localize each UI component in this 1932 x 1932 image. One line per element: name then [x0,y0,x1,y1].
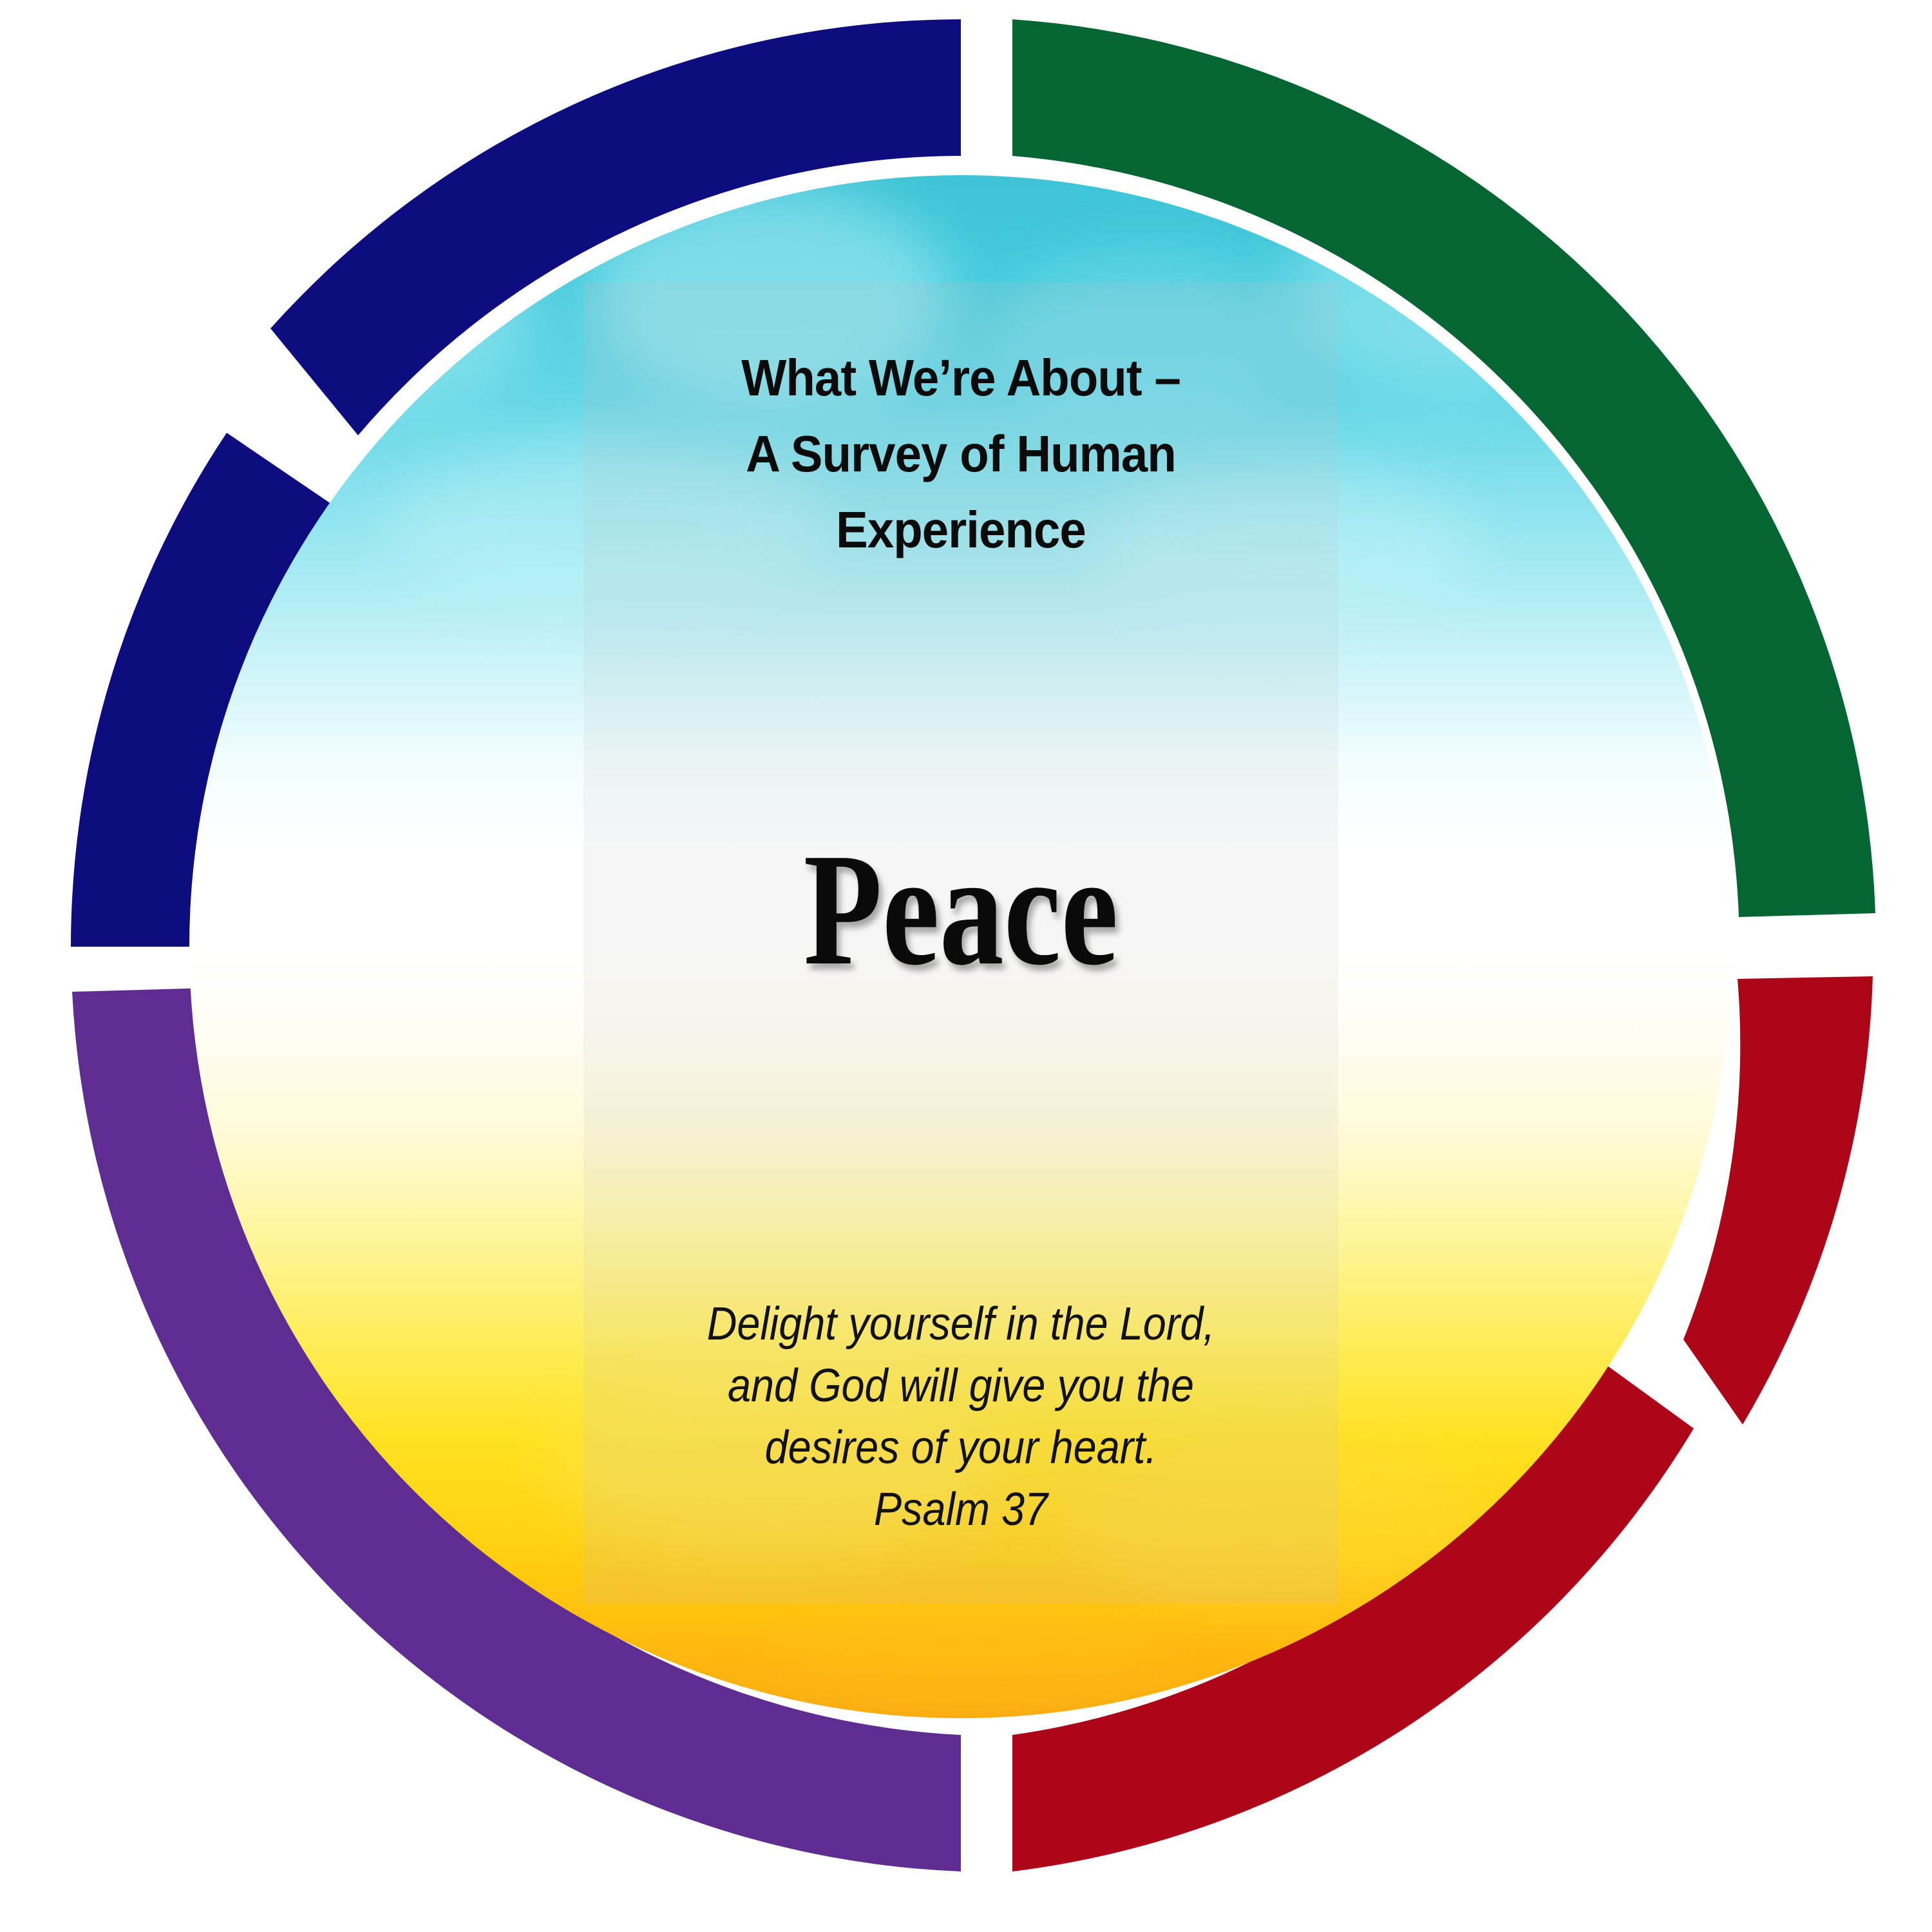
slide-title-line-1: What We’re About – [610,340,1312,416]
cloud-texture [267,214,537,407]
slide-title-line-3: Experience [610,492,1312,568]
scripture-quote-line-2: and God will give you the [621,1355,1301,1417]
slide-title-line-2: A Survey of Human [610,416,1312,492]
scripture-quote-line-1: Delight yourself in the Lord, [621,1293,1301,1355]
slide-canvas: What We’re About – A Survey of Human Exp… [0,0,1932,1932]
text-content-area: What We’re About – A Survey of Human Exp… [583,282,1338,1604]
scripture-reference: Psalm 37 [621,1479,1301,1540]
scripture-quote-line-3: desires of your heart. [621,1417,1301,1479]
scripture-quote: Delight yourself in the Lord, and God wi… [621,1293,1301,1540]
headline-word: Peace [659,829,1263,990]
slide-title: What We’re About – A Survey of Human Exp… [610,340,1312,568]
